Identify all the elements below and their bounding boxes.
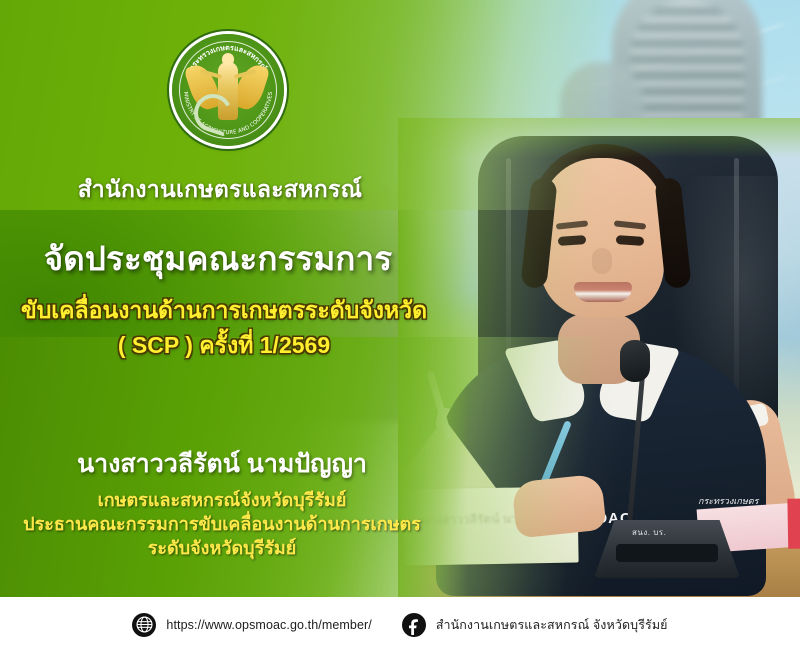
- website-link[interactable]: https://www.opsmoac.go.th/member/: [132, 613, 371, 637]
- subtitle-line-2: ( SCP ) ครั้งที่ 1/2569: [0, 328, 454, 364]
- facebook-link[interactable]: สำนักงานเกษตรและสหกรณ์ จังหวัดบุรีรัมย์: [402, 613, 668, 637]
- facebook-page-text: สำนักงานเกษตรและสหกรณ์ จังหวัดบุรีรัมย์: [436, 615, 668, 635]
- ministry-seal-logo: กระทรวงเกษตรและสหกรณ์ MINISTRY OF AGRICU…: [172, 34, 284, 146]
- page-title: จัดประชุมคณะกรรมการ: [0, 232, 448, 285]
- person-position-line-3: ระดับจังหวัดบุรีรัมย์: [0, 533, 452, 562]
- facebook-icon: [402, 613, 426, 637]
- website-url-text: https://www.opsmoac.go.th/member/: [166, 618, 371, 632]
- announcement-poster: MOAC กระทรวงเกษตร Family AO นางสาววลีรัต…: [0, 0, 800, 652]
- organization-line: สำนักงานเกษตรและสหกรณ์: [0, 172, 450, 208]
- globe-icon: [132, 613, 156, 637]
- subtitle-line-1: ขับเคลื่อนงานด้านการเกษตรระดับจังหวัด: [0, 293, 454, 329]
- person-name: นางสาววลีรัตน์ นามปัญญา: [0, 444, 452, 484]
- footer-bar: https://www.opsmoac.go.th/member/ สำนักง…: [0, 597, 800, 652]
